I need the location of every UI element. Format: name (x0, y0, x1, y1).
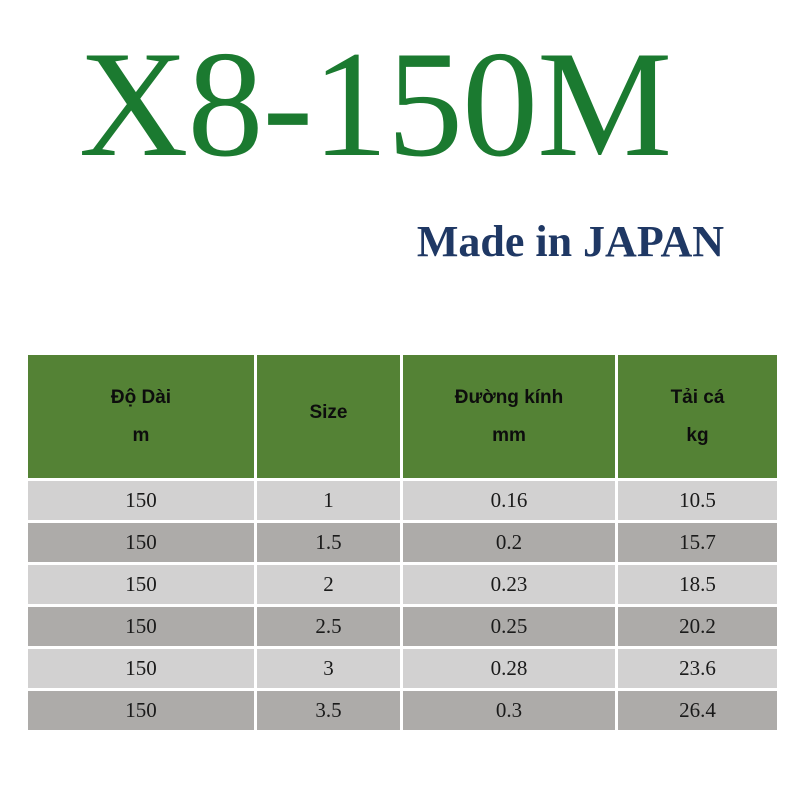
column-header-diameter: Đường kính mm (403, 355, 618, 481)
cell-length: 150 (28, 481, 257, 523)
cell-diameter: 0.25 (403, 607, 618, 649)
page-title: X8-150M (0, 28, 750, 180)
spec-table: Độ Dài m Size Đường kính mm Tải cá kg (28, 355, 777, 730)
table-header-row: Độ Dài m Size Đường kính mm Tải cá kg (28, 355, 777, 481)
table-row: 150 2 0.23 18.5 (28, 565, 777, 607)
cell-size: 1 (257, 481, 403, 523)
cell-diameter: 0.3 (403, 691, 618, 730)
cell-diameter: 0.28 (403, 649, 618, 691)
cell-length: 150 (28, 649, 257, 691)
cell-load: 18.5 (618, 565, 777, 607)
column-header-size: Size (257, 355, 403, 481)
product-spec-sheet: X8-150M Made in JAPAN Độ Dài m Size (0, 0, 800, 800)
cell-diameter: 0.2 (403, 523, 618, 565)
title-block: X8-150M Made in JAPAN (0, 0, 800, 340)
cell-size: 1.5 (257, 523, 403, 565)
cell-load: 26.4 (618, 691, 777, 730)
table-row: 150 1.5 0.2 15.7 (28, 523, 777, 565)
cell-load: 10.5 (618, 481, 777, 523)
table-row: 150 3 0.28 23.6 (28, 649, 777, 691)
spec-table-header: Độ Dài m Size Đường kính mm Tải cá kg (28, 355, 777, 481)
column-header-length-label: Độ Dài (111, 387, 171, 408)
cell-length: 150 (28, 565, 257, 607)
cell-size: 3 (257, 649, 403, 691)
cell-load: 15.7 (618, 523, 777, 565)
spec-table-body: 150 1 0.16 10.5 150 1.5 0.2 15.7 150 2 0… (28, 481, 777, 730)
cell-diameter: 0.16 (403, 481, 618, 523)
column-header-diameter-label: Đường kính (455, 387, 564, 408)
column-header-length: Độ Dài m (28, 355, 257, 481)
cell-diameter: 0.23 (403, 565, 618, 607)
column-header-diameter-unit: mm (407, 421, 611, 450)
column-header-size-label: Size (309, 402, 347, 423)
origin-label: Made in JAPAN (0, 218, 752, 266)
column-header-length-unit: m (32, 421, 250, 450)
table-row: 150 3.5 0.3 26.4 (28, 691, 777, 730)
cell-length: 150 (28, 523, 257, 565)
spec-table-container: Độ Dài m Size Đường kính mm Tải cá kg (28, 355, 777, 730)
cell-load: 20.2 (618, 607, 777, 649)
cell-length: 150 (28, 691, 257, 730)
cell-size: 2.5 (257, 607, 403, 649)
cell-size: 2 (257, 565, 403, 607)
column-header-load-unit: kg (622, 421, 773, 450)
cell-size: 3.5 (257, 691, 403, 730)
cell-length: 150 (28, 607, 257, 649)
table-row: 150 1 0.16 10.5 (28, 481, 777, 523)
table-row: 150 2.5 0.25 20.2 (28, 607, 777, 649)
cell-load: 23.6 (618, 649, 777, 691)
column-header-load-label: Tải cá (671, 387, 725, 408)
column-header-load: Tải cá kg (618, 355, 777, 481)
